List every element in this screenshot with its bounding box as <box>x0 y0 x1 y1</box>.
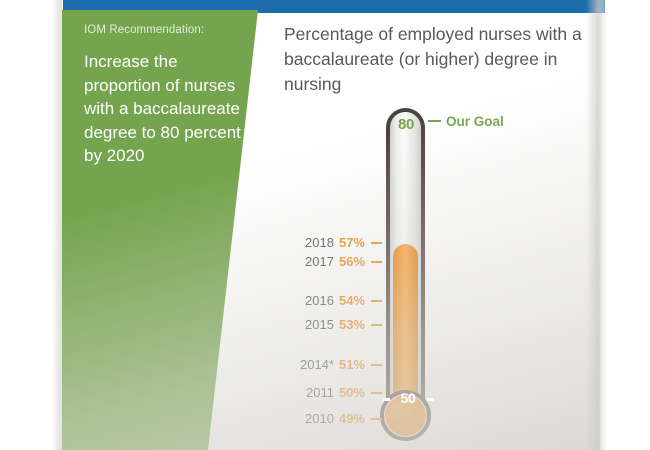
goal-dash-icon <box>428 120 441 122</box>
goal-value-label: 80 <box>391 116 421 133</box>
year-label: 2018 <box>305 235 334 250</box>
year-label: 2017 <box>305 254 334 269</box>
row-dash-icon <box>371 324 382 326</box>
percent-label: 51% <box>339 357 365 372</box>
year-value-row: 201553% <box>305 318 382 331</box>
year-label: 2014* <box>300 357 334 372</box>
percent-label: 54% <box>339 293 365 308</box>
right-edge-shadow <box>586 0 608 450</box>
year-value-row: 201150% <box>306 386 382 399</box>
row-dash-icon <box>371 300 382 302</box>
year-label: 2011 <box>306 385 334 400</box>
goal-callout: Our Goal <box>428 114 504 129</box>
goal-callout-label: Our Goal <box>446 114 504 129</box>
year-value-row: 201756% <box>305 255 382 268</box>
year-value-row: 201049% <box>305 412 382 425</box>
mercury-fill <box>393 244 418 408</box>
row-dash-icon <box>371 242 382 244</box>
row-dash-icon <box>371 261 382 263</box>
midpoint-label: 50 <box>384 390 432 406</box>
percent-label: 53% <box>339 317 365 332</box>
percent-label: 50% <box>339 385 365 400</box>
iom-body-text: Increase the proportion of nurses with a… <box>84 50 244 168</box>
percent-label: 49% <box>339 411 365 426</box>
row-dash-icon <box>371 364 382 366</box>
percent-label: 56% <box>339 254 365 269</box>
year-value-row: 2014*51% <box>300 358 382 371</box>
year-label: 2016 <box>305 293 334 308</box>
year-label: 2015 <box>305 317 334 332</box>
percent-label: 57% <box>339 235 365 250</box>
chart-title: Percentage of employed nurses with a bac… <box>284 22 584 97</box>
year-value-row: 201654% <box>305 294 382 307</box>
year-value-row: 201857% <box>305 236 382 249</box>
iom-panel-content: IOM Recommendation: Increase the proport… <box>84 24 244 168</box>
row-dash-icon <box>371 392 382 394</box>
infographic-canvas: IOM Recommendation: Increase the proport… <box>0 0 650 450</box>
iom-kicker: IOM Recommendation: <box>84 24 244 36</box>
year-label: 2010 <box>305 411 334 426</box>
tube-mask <box>390 108 421 408</box>
row-dash-icon <box>371 418 382 420</box>
